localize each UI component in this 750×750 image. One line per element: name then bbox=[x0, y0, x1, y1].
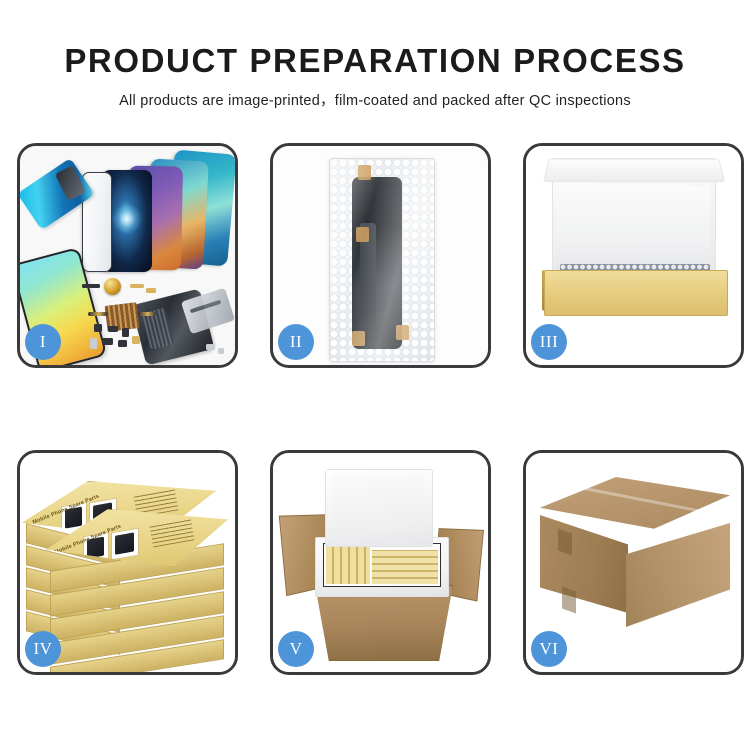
plastic-sheen bbox=[330, 159, 434, 361]
small-part-icon bbox=[132, 336, 140, 344]
small-part-icon bbox=[82, 284, 100, 288]
process-step-3: III bbox=[523, 143, 744, 368]
tape-icon bbox=[562, 586, 576, 613]
flex-cable-icon bbox=[138, 312, 156, 316]
process-step-4: Mobile Phone Spare Parts Mobile Phone Sp… bbox=[17, 450, 238, 675]
process-step-1: I bbox=[17, 143, 238, 368]
flex-cable-icon bbox=[88, 312, 108, 316]
yellow-box-tray bbox=[544, 270, 728, 316]
product-preparation-process-infographic: PRODUCT PREPARATION PROCESS All products… bbox=[0, 0, 750, 750]
step-badge-icon: III bbox=[531, 324, 567, 360]
box-lid-flap bbox=[543, 159, 725, 182]
yellow-box-stack bbox=[372, 550, 438, 584]
foam-lid-inner bbox=[333, 475, 423, 533]
process-step-grid: I II bbox=[17, 143, 733, 675]
page-title: PRODUCT PREPARATION PROCESS bbox=[0, 0, 750, 79]
page-subtitle: All products are image-printed，film-coat… bbox=[0, 79, 750, 110]
step-badge-icon: VI bbox=[531, 631, 567, 667]
small-part-icon bbox=[122, 328, 129, 337]
screen-thumbnail bbox=[115, 532, 134, 554]
step-badge-icon: V bbox=[278, 631, 314, 667]
speaker-coil-icon bbox=[104, 278, 121, 295]
screw-icon bbox=[206, 344, 215, 350]
small-part-icon bbox=[146, 288, 156, 293]
yellow-box-stack bbox=[326, 546, 370, 584]
screw-icon bbox=[218, 348, 224, 354]
bubble-wrap-package bbox=[329, 158, 435, 362]
step-badge-icon: IV bbox=[25, 631, 61, 667]
header: PRODUCT PREPARATION PROCESS All products… bbox=[0, 0, 750, 110]
small-part-icon bbox=[130, 284, 144, 288]
tape-icon bbox=[558, 528, 572, 555]
process-step-6: VI bbox=[523, 450, 744, 675]
carton-contents bbox=[323, 543, 441, 587]
box-window bbox=[111, 528, 139, 561]
process-step-2: II bbox=[270, 143, 491, 368]
carton-right-face bbox=[626, 523, 730, 627]
process-step-5: V bbox=[270, 450, 491, 675]
small-part-icon bbox=[108, 326, 118, 332]
carton-left-face bbox=[540, 515, 628, 613]
print-lines bbox=[149, 519, 194, 548]
small-part-icon bbox=[90, 338, 97, 349]
small-part-icon bbox=[102, 338, 113, 345]
small-part-icon bbox=[118, 340, 127, 347]
step-badge-icon: II bbox=[278, 324, 314, 360]
small-part-icon bbox=[94, 324, 102, 332]
step-badge-icon: I bbox=[25, 324, 61, 360]
